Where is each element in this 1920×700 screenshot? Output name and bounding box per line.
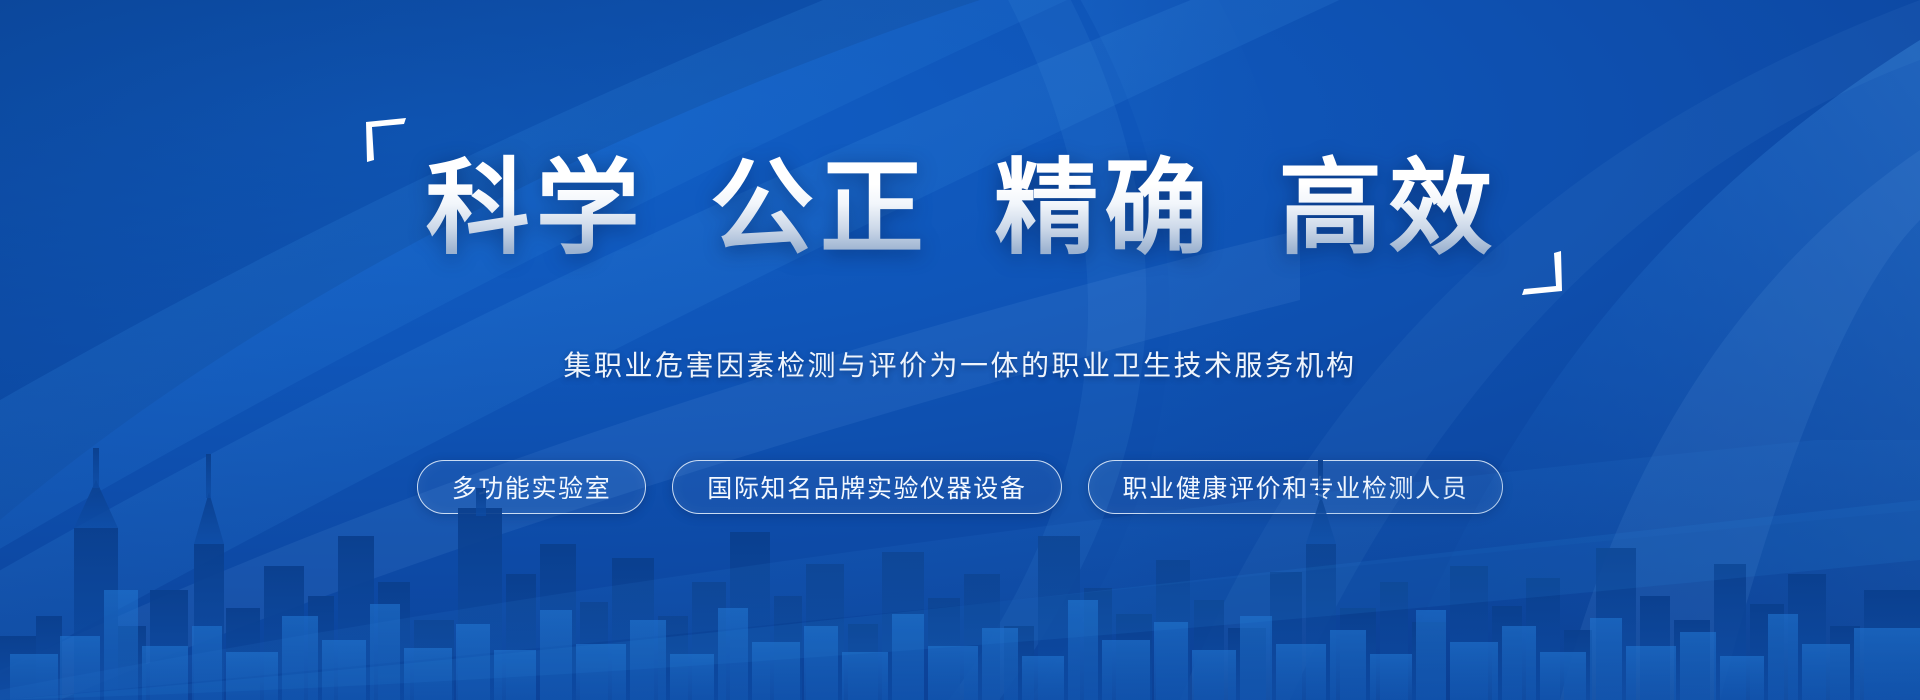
arc-band-1	[0, 0, 1330, 620]
headline-word-3: 精确	[994, 147, 1214, 269]
skyline-light-band-2	[0, 500, 1920, 700]
bracket-open-svg	[364, 118, 408, 162]
headline-gap-3	[1214, 147, 1278, 269]
headline-word-1: 科学	[426, 147, 646, 269]
headline-word-4: 高效	[1278, 147, 1498, 269]
headline-block: 科学 公正 精确 高效	[0, 148, 1920, 269]
feature-pill-row: 多功能实验室 国际知名品牌实验仪器设备 职业健康评价和专业检测人员	[0, 460, 1920, 514]
bracket-open-icon	[364, 118, 408, 162]
bracket-close-icon	[1520, 251, 1564, 295]
bracket-close-svg	[1520, 251, 1564, 295]
subtitle: 集职业危害因素检测与评价为一体的职业卫生技术服务机构	[0, 344, 1920, 384]
feature-pill-equipment[interactable]: 国际知名品牌实验仪器设备	[672, 460, 1061, 514]
feature-pill-personnel[interactable]: 职业健康评价和专业检测人员	[1088, 460, 1504, 514]
feature-pill-lab[interactable]: 多功能实验室	[417, 460, 647, 514]
skyline-near-layer	[10, 590, 1920, 700]
page-title: 科学 公正 精确 高效	[426, 148, 1499, 269]
hero-banner: 科学 公正 精确 高效 集职业危害因素检测与评价为一体的职业卫生技术服务机构 多…	[0, 0, 1920, 700]
headline-gap-2	[930, 147, 994, 269]
headline-word-2: 公正	[710, 147, 930, 269]
headline-gap-1	[646, 147, 710, 269]
